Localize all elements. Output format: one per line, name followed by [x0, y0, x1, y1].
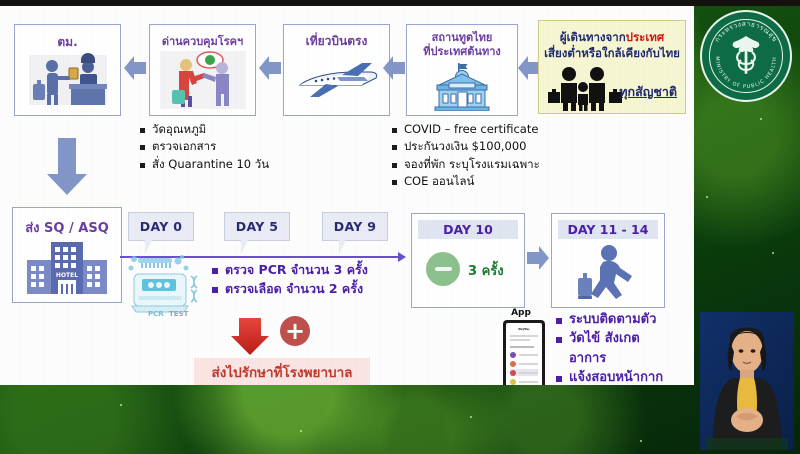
moph-logo: กระทรวงสาธารณสุข MINISTRY OF PUBLIC HEAL… [700, 10, 792, 102]
list-item: COVID – free certificate [392, 122, 672, 136]
bullet-square-icon [392, 180, 397, 185]
arrow-left-4 [518, 54, 540, 82]
callout-day-0[interactable]: DAY 0 [128, 212, 194, 241]
bullet-square-icon [212, 287, 218, 293]
traveler-walking-icon [576, 245, 642, 303]
bullets-documents: COVID – free certificate ประกันวงเงิน $1… [392, 122, 672, 192]
box-thai-embassy-label-line1: สถานทูตไทย [407, 31, 517, 45]
family-travelers-icon [547, 65, 627, 111]
list-item: สั่ง Quarantine 10 วัน [140, 157, 370, 171]
background-sparkle [706, 196, 708, 198]
box-thai-embassy[interactable]: สถานทูตไทย ที่ประเทศต้นทาง [406, 24, 518, 116]
app-label: App [498, 308, 544, 318]
list-item: COE ออนไลน์ [392, 174, 672, 188]
bullets-monitoring: ระบบติดตามตัว วัดไข้ สังเกต อาการ แจ้งสอ… [556, 312, 694, 385]
bullet-square-icon [392, 128, 397, 133]
bullets-tests: ตรวจ PCR จำนวน 3 ครั้ง ตรวจเลือด จำนวน 2… [212, 262, 402, 299]
box-hotel-quarantine[interactable]: ส่ง SQ / ASQ HOTEL [12, 207, 122, 303]
bullet-square-icon [556, 337, 562, 343]
box-day-11-14[interactable]: DAY 11 - 14 [551, 213, 665, 308]
box-immigration-label: ตม. [15, 33, 120, 52]
arrow-left-3 [383, 54, 405, 82]
box-direct-flight[interactable]: เที่ยวบินตรง [283, 24, 390, 116]
background-sparkle [760, 118, 762, 120]
bullet-square-icon [140, 145, 145, 150]
list-item: ตรวจ PCR จำนวน 3 ครั้ง [212, 262, 402, 278]
callout-day-5-tail [241, 238, 249, 254]
screen-root: ตม. ด่านควบคุมโ [0, 0, 800, 454]
svg-text:MINISTRY OF PUBLIC HEALTH: MINISTRY OF PUBLIC HEALTH [714, 56, 778, 90]
hotel-building-icon: HOTEL [21, 240, 113, 296]
traveler-line1-b: ประเทศ [626, 30, 664, 44]
list-item: จองที่พัก ระบุโรงแรมเฉพาะ [392, 157, 672, 171]
box-day-10[interactable]: DAY 10 3 ครั้ง [411, 213, 525, 308]
box-send-to-hospital[interactable]: ส่งไปรักษาที่โรงพยาบาล [194, 358, 370, 385]
health-screening-icon [158, 49, 248, 111]
bullets-screening: วัดอุณหภูมิ ตรวจเอกสาร สั่ง Quarantine 1… [140, 122, 370, 174]
moph-logo-text: กระทรวงสาธารณสุข MINISTRY OF PUBLIC HEAL… [702, 12, 790, 100]
box-disease-control-label: ด่านควบคุมโรคฯ [150, 32, 255, 50]
box-day-11-14-header: DAY 11 - 14 [558, 220, 658, 239]
callout-day-9-tail [339, 238, 347, 254]
pcr-test-icon: PCR TEST [128, 254, 208, 316]
box-day-10-result: 3 ครั้ง [468, 260, 504, 281]
background-sparkle [120, 404, 122, 406]
arrow-down-immigration [46, 138, 88, 196]
background-sparkle [300, 430, 302, 432]
box-send-to-hospital-label: ส่งไปรักษาที่โรงพยาบาล [212, 361, 353, 383]
interpreter-figure [700, 312, 794, 450]
embassy-building-icon [425, 63, 499, 111]
box-traveler-origin[interactable]: ผู้เดินทางจากประเทศ เสี่ยงต่ำหรือใกล้เคี… [538, 20, 686, 114]
bullet-square-icon [140, 128, 145, 133]
box-disease-control[interactable]: ด่านควบคุมโรคฯ [149, 24, 256, 116]
callout-day-0-label: DAY 0 [129, 213, 193, 240]
bullet-square-icon [556, 318, 562, 324]
callout-day-9-label: DAY 9 [323, 213, 387, 240]
bullet-square-icon [392, 145, 397, 150]
traveler-line3: ทุกสัญชาติ [619, 84, 677, 101]
bullet-square-icon [140, 163, 145, 168]
svg-text:PCR: PCR [148, 310, 164, 316]
plus-circle-icon: + [280, 316, 310, 346]
airplane-icon [292, 55, 382, 107]
box-hotel-label: ส่ง SQ / ASQ [13, 217, 121, 238]
bullet-square-icon [556, 376, 562, 382]
callout-day-9[interactable]: DAY 9 [322, 212, 388, 241]
svg-text:HOTEL: HOTEL [56, 272, 78, 279]
bullet-square-icon [392, 163, 397, 168]
red-down-arrow-icon [230, 318, 270, 360]
callout-day-5[interactable]: DAY 5 [224, 212, 290, 241]
arrow-left-1 [124, 54, 146, 82]
box-direct-flight-label: เที่ยวบินตรง [284, 32, 389, 51]
sign-language-interpreter-video[interactable] [700, 312, 794, 450]
list-item: ประกันวงเงิน $100,000 [392, 139, 672, 153]
list-item-clipped: แจ้งสอบหน้ากาก [556, 370, 694, 385]
callout-day-0-tail [145, 238, 153, 254]
negative-result-icon [426, 252, 460, 286]
plus-symbol: + [285, 319, 305, 343]
slide-panel: ตม. ด่านควบคุมโ [0, 6, 694, 385]
bullet-square-icon [212, 268, 218, 274]
svg-text:TEST: TEST [169, 310, 189, 316]
immigration-desk-icon [25, 51, 111, 109]
box-thai-embassy-label-line2: ที่ประเทศต้นทาง [407, 45, 517, 59]
arrow-right-day [527, 244, 549, 272]
arrow-left-2 [259, 54, 281, 82]
background-sparkle [640, 440, 642, 442]
mobile-app-icon[interactable]: หมอชนะ [503, 320, 545, 385]
list-item: วัดไข้ สังเกต [556, 331, 694, 347]
list-item-continuation: อาการ [556, 351, 694, 367]
callout-day-5-label: DAY 5 [225, 213, 289, 240]
svg-text:กระทรวงสาธารณสุข: กระทรวงสาธารณสุข [713, 20, 779, 43]
timeline-arrowhead [398, 252, 406, 262]
background-sparkle [470, 416, 472, 418]
traveler-line1-a: ผู้เดินทางจาก [560, 30, 626, 44]
list-item: ตรวจเอกสาร [140, 139, 370, 153]
box-day-10-header: DAY 10 [418, 220, 518, 239]
bullet-spacer [556, 357, 562, 363]
box-immigration[interactable]: ตม. [14, 24, 121, 116]
list-item: วัดอุณหภูมิ [140, 122, 370, 136]
list-item: ระบบติดตามตัว [556, 312, 694, 328]
background-sparkle [772, 252, 774, 254]
list-item: ตรวจเลือด จำนวน 2 ครั้ง [212, 281, 402, 297]
traveler-line2: เสี่ยงต่ำหรือใกล้เคียงกับไทย [539, 46, 685, 62]
